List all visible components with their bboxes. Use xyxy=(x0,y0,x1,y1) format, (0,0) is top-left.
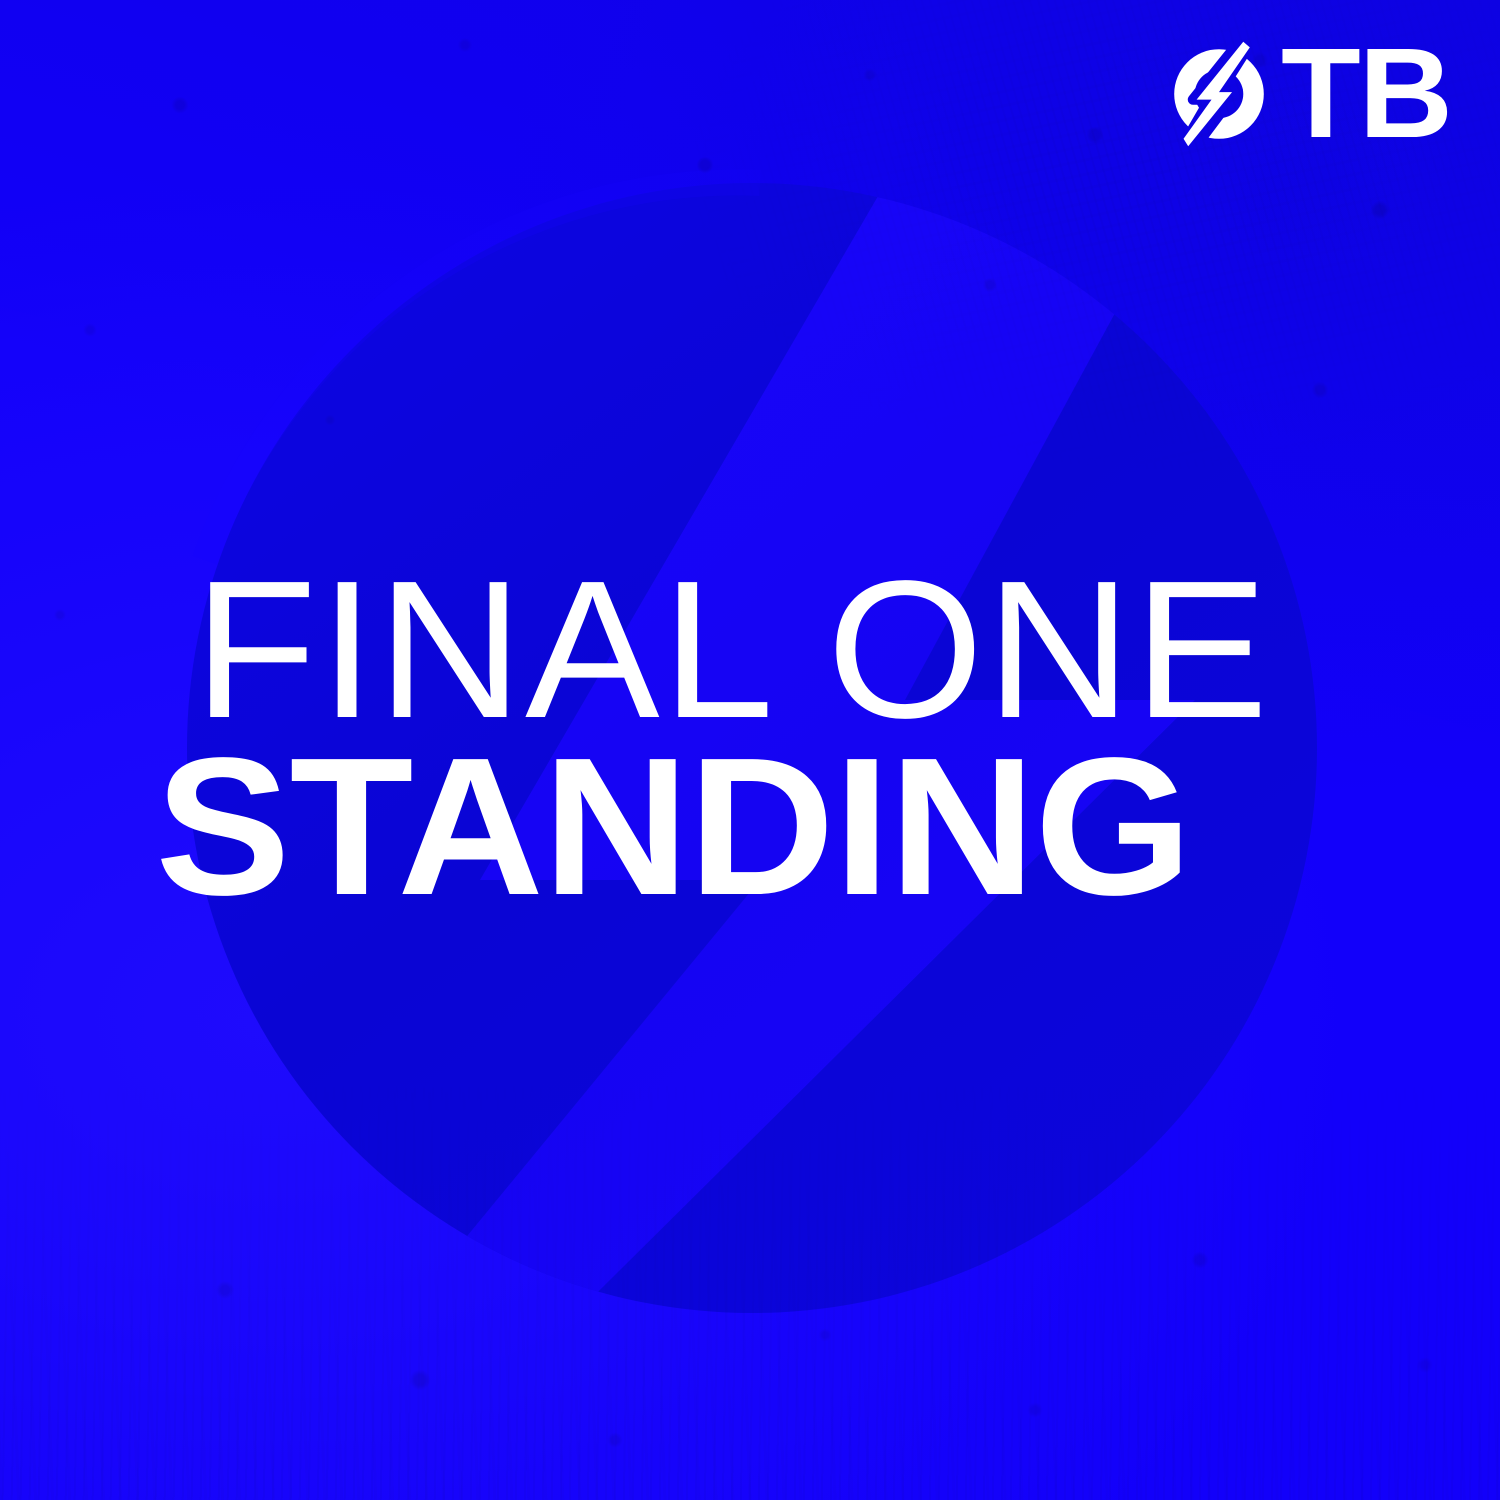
otb-logo: TB xyxy=(1163,38,1448,150)
background-grunge-texture-bottom xyxy=(0,1080,1500,1500)
title-line-primary: FINAL ONE xyxy=(0,566,1500,735)
otb-bolt-circle-icon xyxy=(1163,38,1275,150)
cover-art-canvas: TB FINAL ONE STANDING xyxy=(0,0,1500,1500)
otb-wordmark: TB xyxy=(1281,44,1451,144)
cover-title: FINAL ONE STANDING xyxy=(0,566,1500,911)
title-line-secondary: STANDING xyxy=(0,743,1500,912)
